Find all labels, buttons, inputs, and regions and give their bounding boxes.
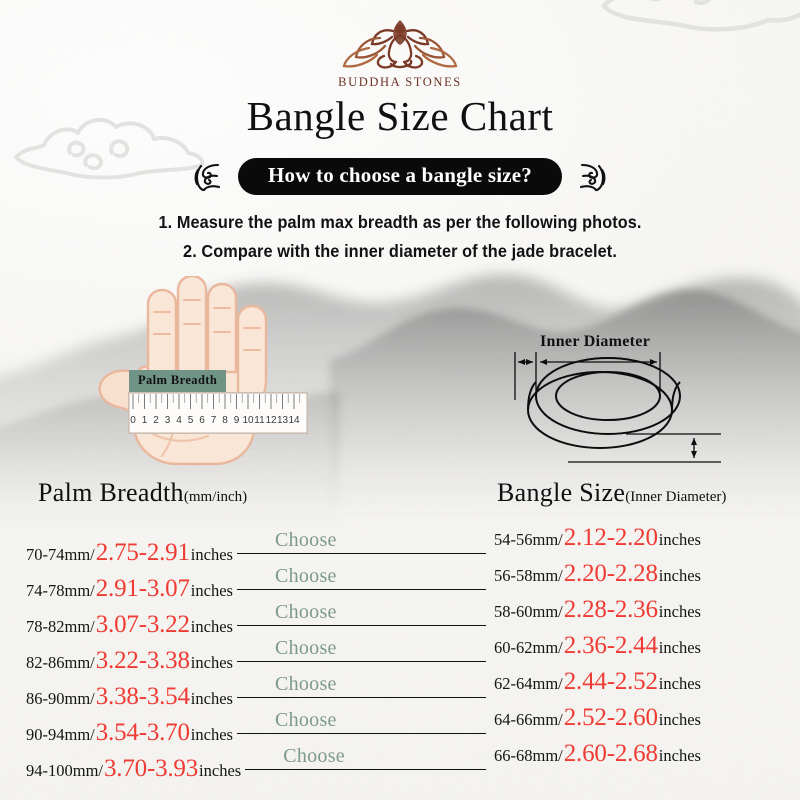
ruler-tick-label: 4 (176, 415, 182, 426)
size-mm-range: 74-78mm/ (26, 581, 95, 601)
table-row: 64-66mm/2.52-2.60inches (494, 704, 794, 740)
choose-label: Choose (275, 673, 337, 696)
ruler-tick-label: 13 (277, 415, 289, 426)
palm-breadth-heading-title: Palm Breadth (38, 478, 184, 507)
size-unit-label: inches (659, 746, 701, 766)
ruler-tick-label: 1 (142, 415, 148, 426)
banner-pill: How to choose a bangle size? (238, 158, 562, 195)
size-mm-range: 70-74mm/ (26, 545, 95, 565)
size-cell: 66-68mm/2.60-2.68inches (494, 740, 701, 768)
ruler-tick-label: 11 (254, 415, 265, 426)
size-cell: 58-60mm/2.28-2.36inches (494, 596, 701, 624)
choose-label: Choose (283, 745, 345, 768)
choose-field[interactable]: Choose (237, 596, 486, 632)
size-mm-range: 90-94mm/ (26, 725, 95, 745)
size-inch-range: 2.52-2.60 (563, 704, 659, 732)
size-unit-label: inches (191, 545, 233, 565)
size-cell: 56-58mm/2.20-2.28inches (494, 560, 701, 588)
size-inch-range: 3.54-3.70 (95, 719, 191, 747)
choose-underline (237, 553, 486, 554)
size-mm-range: 58-60mm/ (494, 602, 563, 622)
bangle-size-column-heading: Bangle Size(Inner Diameter) (497, 478, 726, 508)
choose-underline (237, 697, 486, 698)
ruler-tick-label: 2 (153, 415, 159, 426)
bangle-ring-illustration (508, 348, 723, 466)
table-row[interactable]: 70-74mm/2.75-2.91inchesChoose (26, 524, 486, 560)
size-unit-label: inches (191, 689, 233, 709)
table-row: 66-68mm/2.60-2.68inches (494, 740, 794, 776)
banner-row: How to choose a bangle size? (0, 158, 800, 195)
ruler-tick-label: 7 (211, 415, 217, 426)
palm-breadth-heading-unit: (mm/inch) (184, 489, 247, 505)
choose-label: Choose (275, 601, 337, 624)
size-unit-label: inches (659, 530, 701, 550)
instruction-line-1: 1. Measure the palm max breadth as per t… (28, 208, 772, 237)
instruction-line-2: 2. Compare with the inner diameter of th… (28, 237, 772, 266)
palm-breadth-column-heading: Palm Breadth(mm/inch) (38, 478, 247, 508)
size-unit-label: inches (199, 761, 241, 781)
ruler-tick-label: 14 (288, 415, 300, 426)
size-inch-range: 2.60-2.68 (563, 740, 659, 768)
table-row: 58-60mm/2.28-2.36inches (494, 596, 794, 632)
choose-underline (237, 589, 486, 590)
ruler-illustration: 01234567891011121314 (128, 392, 308, 434)
size-mm-range: 64-66mm/ (494, 710, 563, 730)
size-inch-range: 2.75-2.91 (95, 539, 191, 567)
size-mm-range: 94-100mm/ (26, 761, 103, 781)
size-inch-range: 3.07-3.22 (95, 611, 191, 639)
size-cell: 86-90mm/3.38-3.54inches (26, 683, 233, 711)
bangle-size-table: 54-56mm/2.12-2.20inches56-58mm/2.20-2.28… (494, 524, 794, 776)
choose-label: Choose (275, 637, 337, 660)
ruler-tick-label: 10 (242, 415, 254, 426)
size-inch-range: 3.70-3.93 (103, 755, 199, 783)
instruction-list: 1. Measure the palm max breadth as per t… (0, 208, 800, 266)
choose-field[interactable]: Choose (237, 560, 486, 596)
size-cell: 74-78mm/2.91-3.07inches (26, 575, 233, 603)
choose-field[interactable]: Choose (237, 704, 486, 740)
ruler-tick-label: 12 (265, 415, 277, 426)
swirl-ornament-icon (574, 160, 608, 194)
size-cell: 62-64mm/2.44-2.52inches (494, 668, 701, 696)
size-cell: 78-82mm/3.07-3.22inches (26, 611, 233, 639)
choose-underline (237, 625, 486, 626)
size-mm-range: 78-82mm/ (26, 617, 95, 637)
ruler-tick-label: 9 (234, 415, 240, 426)
table-row: 62-64mm/2.44-2.52inches (494, 668, 794, 704)
size-inch-range: 3.22-3.38 (95, 647, 191, 675)
size-cell: 82-86mm/3.22-3.38inches (26, 647, 233, 675)
table-row: 60-62mm/2.36-2.44inches (494, 632, 794, 668)
bangle-size-heading-title: Bangle Size (497, 478, 625, 507)
palm-breadth-label: Palm Breadth (129, 370, 226, 392)
page-title: Bangle Size Chart (0, 92, 800, 140)
table-row: 56-58mm/2.20-2.28inches (494, 560, 794, 596)
size-unit-label: inches (659, 602, 701, 622)
palm-breadth-table: 70-74mm/2.75-2.91inchesChoose74-78mm/2.9… (26, 524, 486, 776)
size-cell: 60-62mm/2.36-2.44inches (494, 632, 701, 660)
size-cell: 90-94mm/3.54-3.70inches (26, 719, 233, 747)
size-mm-range: 56-58mm/ (494, 566, 563, 586)
size-inch-range: 2.91-3.07 (95, 575, 191, 603)
table-row: 54-56mm/2.12-2.20inches (494, 524, 794, 560)
choose-underline (245, 769, 486, 770)
ruler-tick-label: 0 (130, 415, 136, 426)
size-chart-page: BUDDHA STONES Bangle Size Chart How to c… (0, 0, 800, 800)
swirl-ornament-icon (192, 160, 226, 194)
size-unit-label: inches (191, 653, 233, 673)
choose-field[interactable]: Choose (245, 740, 486, 776)
choose-label: Choose (275, 565, 337, 588)
choose-underline (237, 733, 486, 734)
size-cell: 70-74mm/2.75-2.91inches (26, 539, 233, 567)
bangle-size-heading-unit: (Inner Diameter) (625, 489, 726, 505)
choose-field[interactable]: Choose (237, 632, 486, 668)
size-unit-label: inches (659, 710, 701, 730)
size-mm-range: 54-56mm/ (494, 530, 563, 550)
size-unit-label: inches (191, 725, 233, 745)
ruler-tick-label: 8 (222, 415, 228, 426)
size-mm-range: 82-86mm/ (26, 653, 95, 673)
brand-logo: BUDDHA STONES (0, 12, 800, 90)
choose-label: Choose (275, 529, 337, 552)
size-cell: 64-66mm/2.52-2.60inches (494, 704, 701, 732)
size-inch-range: 2.20-2.28 (563, 560, 659, 588)
choose-underline (237, 661, 486, 662)
choose-field[interactable]: Choose (237, 668, 486, 704)
size-unit-label: inches (191, 617, 233, 637)
size-inch-range: 2.28-2.36 (563, 596, 659, 624)
size-cell: 54-56mm/2.12-2.20inches (494, 524, 701, 552)
size-unit-label: inches (659, 674, 701, 694)
size-inch-range: 2.36-2.44 (563, 632, 659, 660)
choose-label: Choose (275, 709, 337, 732)
ruler-tick-label: 5 (188, 415, 194, 426)
size-inch-range: 2.44-2.52 (563, 668, 659, 696)
size-mm-range: 86-90mm/ (26, 689, 95, 709)
size-cell: 94-100mm/3.70-3.93inches (26, 755, 241, 783)
size-inch-range: 2.12-2.20 (563, 524, 659, 552)
ruler-tick-label: 3 (165, 415, 171, 426)
size-inch-range: 3.38-3.54 (95, 683, 191, 711)
size-mm-range: 60-62mm/ (494, 638, 563, 658)
brand-wordmark: BUDDHA STONES (0, 75, 800, 90)
size-unit-label: inches (191, 581, 233, 601)
choose-field[interactable]: Choose (237, 524, 486, 560)
buddha-lotus-icon (336, 12, 464, 74)
size-unit-label: inches (659, 638, 701, 658)
size-mm-range: 62-64mm/ (494, 674, 563, 694)
ruler-tick-label: 6 (199, 415, 205, 426)
size-unit-label: inches (659, 566, 701, 586)
size-mm-range: 66-68mm/ (494, 746, 563, 766)
